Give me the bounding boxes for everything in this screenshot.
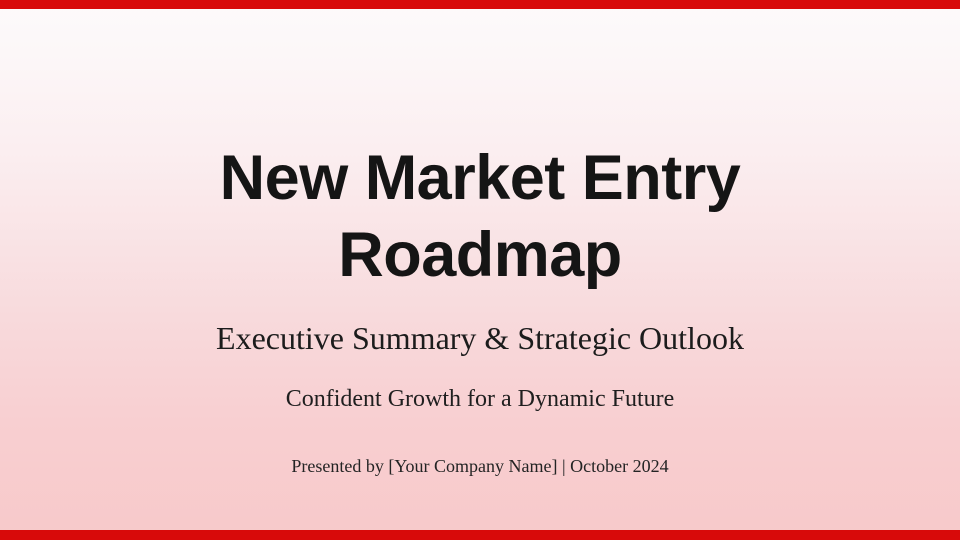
slide-content: New Market Entry Roadmap Executive Summa… — [0, 0, 960, 540]
slide-tagline: Confident Growth for a Dynamic Future — [80, 384, 880, 414]
bottom-accent-bar — [0, 530, 960, 540]
page-title: New Market Entry Roadmap — [80, 140, 880, 294]
slide-subtitle: Executive Summary & Strategic Outlook — [80, 318, 880, 358]
presenter-credit: Presented by [Your Company Name] | Octob… — [280, 456, 680, 477]
title-slide: New Market Entry Roadmap Executive Summa… — [0, 0, 960, 540]
